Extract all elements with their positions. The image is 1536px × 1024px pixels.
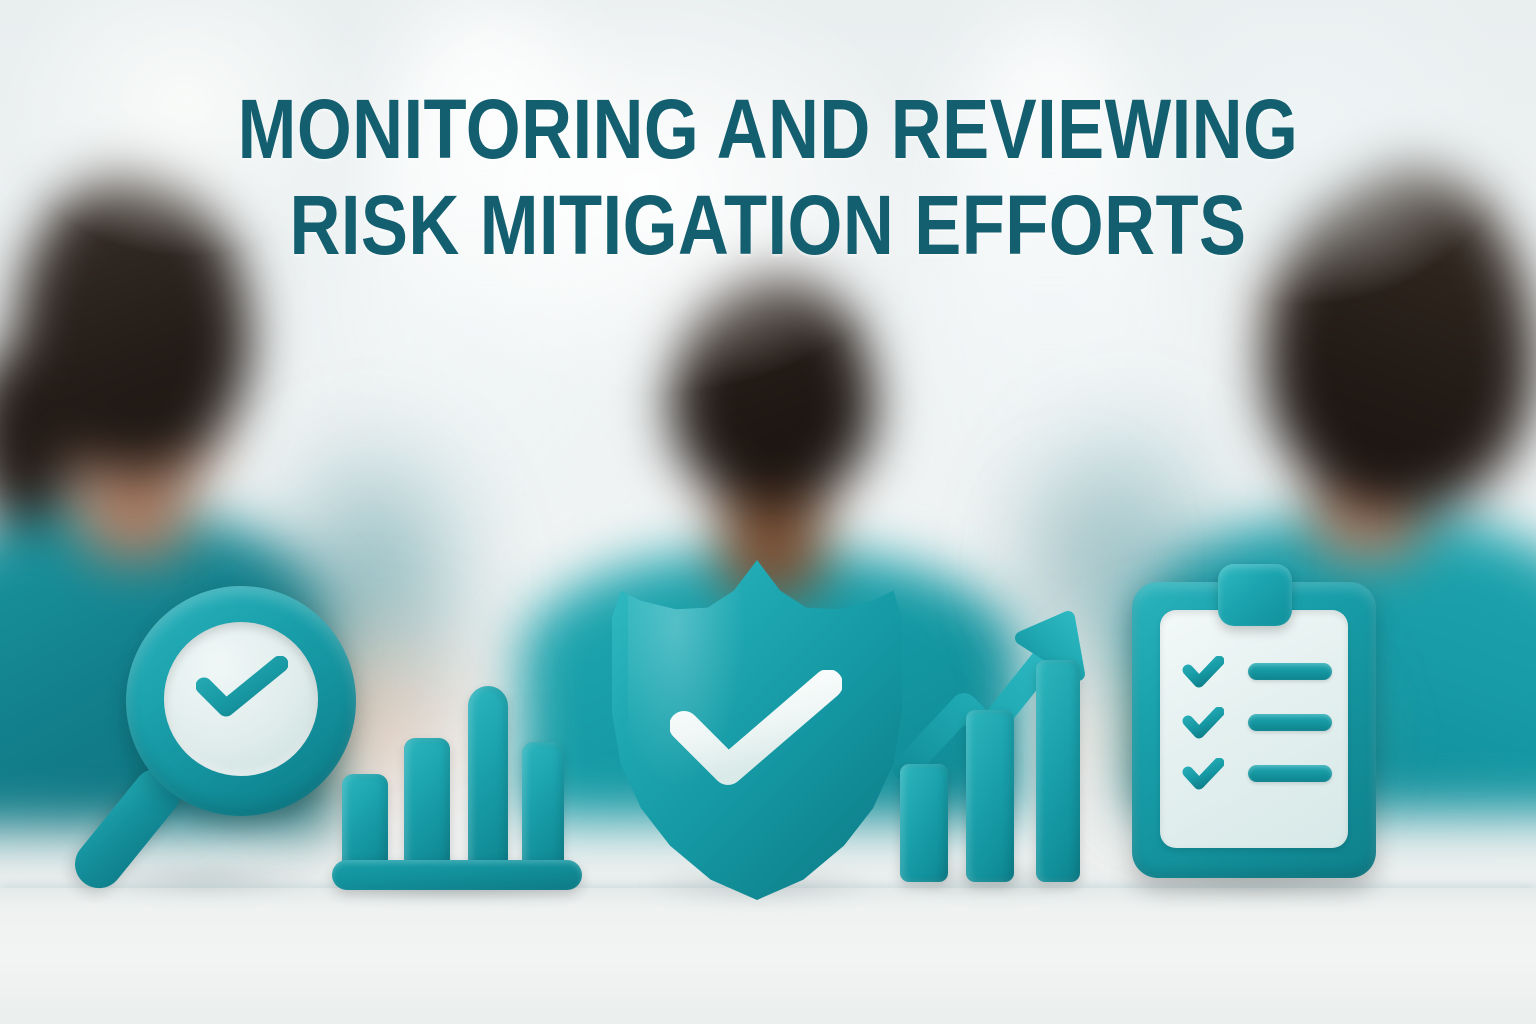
bar-chart-bar-3: [468, 686, 508, 866]
clipboard-check-icon-3: [1182, 758, 1224, 790]
growth-bar-3: [1036, 660, 1080, 882]
title-line-2: RISK MITIGATION EFFORTS: [123, 184, 1413, 266]
magnifier-ring: [126, 586, 356, 816]
bar-chart-bar-1: [342, 774, 388, 866]
clipboard-line-2: [1248, 714, 1332, 731]
shield-check-icon[interactable]: [612, 560, 902, 900]
magnifier-check-mark: [196, 656, 288, 718]
clipboard-check-icon-1: [1182, 656, 1224, 688]
clipboard-clasp: [1218, 564, 1292, 626]
clipboard-line-1: [1248, 663, 1332, 680]
bar-chart-icon[interactable]: [328, 700, 586, 890]
page-title: MONITORING AND REVIEWING RISK MITIGATION…: [0, 88, 1536, 267]
clipboard-line-3: [1248, 765, 1332, 782]
shield-check-mark: [670, 670, 842, 790]
bar-chart-bar-4: [522, 742, 564, 866]
clipboard-checklist-icon[interactable]: [1122, 552, 1384, 882]
growth-bar-1: [900, 764, 948, 882]
title-line-1: MONITORING AND REVIEWING: [123, 88, 1413, 170]
poster-canvas: MONITORING AND REVIEWING RISK MITIGATION…: [0, 0, 1536, 1024]
bar-chart-baseline: [332, 860, 582, 890]
growth-chart-arrow-icon[interactable]: [896, 602, 1092, 882]
bar-chart-bar-2: [404, 738, 450, 866]
growth-bar-2: [966, 710, 1014, 882]
clipboard-check-icon-2: [1182, 707, 1224, 739]
magnifier-lens: [164, 622, 318, 776]
